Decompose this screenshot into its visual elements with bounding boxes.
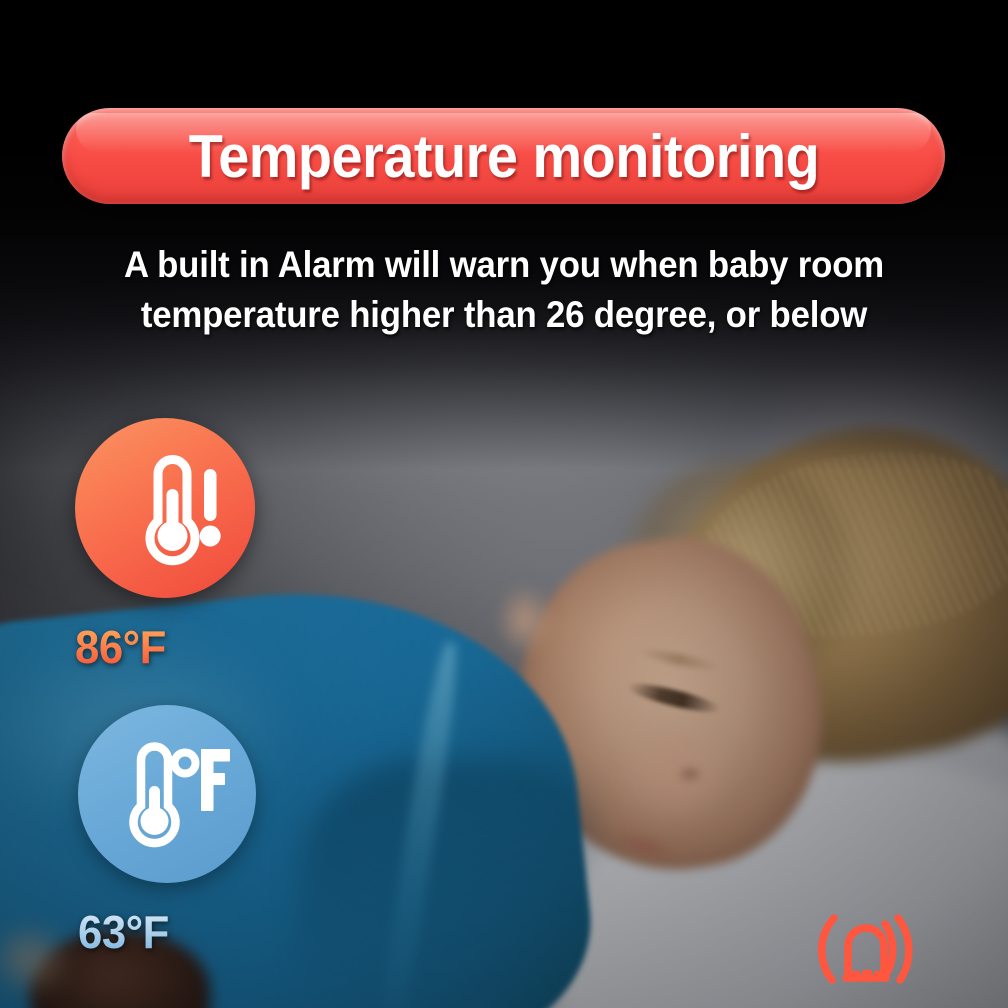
low-temperature-badge: 63°F — [78, 705, 256, 959]
subtitle: A built in Alarm will warn you when baby… — [77, 240, 931, 340]
low-temperature-value: 63°F — [78, 905, 247, 959]
subtitle-line-1: A built in Alarm will warn you when baby… — [77, 240, 931, 290]
subtitle-line-2: temperature higher than 26 degree, or be… — [77, 290, 931, 340]
title-pill: Temperature monitoring — [62, 108, 945, 204]
header-gradient-overlay — [0, 0, 1008, 470]
promo-banner: Temperature monitoring A built in Alarm … — [0, 0, 1008, 1008]
high-temperature-value: 86°F — [75, 620, 246, 674]
thermometer-fahrenheit-icon — [78, 705, 256, 883]
high-temperature-badge: 86°F — [75, 418, 255, 674]
thermometer-alert-icon — [75, 418, 255, 598]
page-title: Temperature monitoring — [188, 122, 818, 191]
baby-monitor-signal-logo — [812, 912, 920, 986]
